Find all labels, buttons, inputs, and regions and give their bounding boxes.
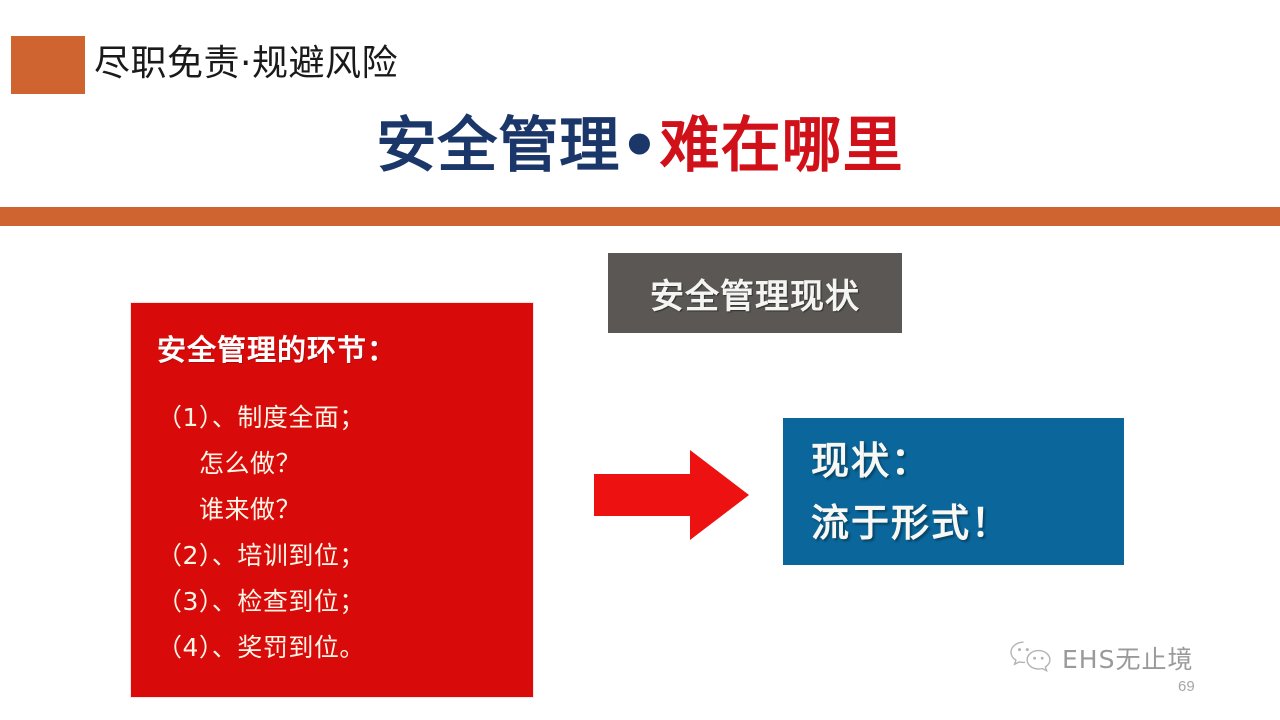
list-item: （1）、制度全面； [157,395,507,441]
page-title-red-part: 难在哪里 [660,111,904,181]
current-status-line-2: 流于形式！ [811,492,1124,554]
header-kicker: 尽职免责·规避风险 [94,40,398,88]
right-arrow-icon [594,450,749,540]
wechat-icon [1008,640,1054,679]
current-status-header-label: 安全管理现状 [650,269,860,318]
list-item: （3）、检查到位； [157,579,507,625]
current-status-line-1: 现状： [811,430,1124,492]
header-divider-bar [0,207,1280,226]
list-item: 谁来做？ [157,487,507,533]
safety-steps-title: 安全管理的环节： [157,331,507,369]
watermark-label: EHS无止境 [1062,646,1193,674]
current-status-panel: 现状： 流于形式！ [783,418,1124,565]
page-number: 69 [1178,678,1195,696]
watermark: EHS无止境 [1008,640,1193,679]
slide-canvas: 尽职免责·规避风险 安全管理•难在哪里 安全管理的环节： （1）、制度全面； 怎… [0,0,1280,720]
page-title: 安全管理•难在哪里 [0,108,1280,184]
list-item: 怎么做？ [157,441,507,487]
safety-steps-panel: 安全管理的环节： （1）、制度全面； 怎么做？ 谁来做？ （2）、培训到位； （… [131,303,533,697]
safety-steps-list: （1）、制度全面； 怎么做？ 谁来做？ （2）、培训到位； （3）、检查到位； … [157,395,507,671]
list-item: （2）、培训到位； [157,533,507,579]
list-item: （4）、奖罚到位。 [157,625,507,671]
current-status-header-box: 安全管理现状 [608,253,902,333]
page-title-blue-part: 安全管理• [376,111,659,181]
header-accent-square [11,36,85,94]
